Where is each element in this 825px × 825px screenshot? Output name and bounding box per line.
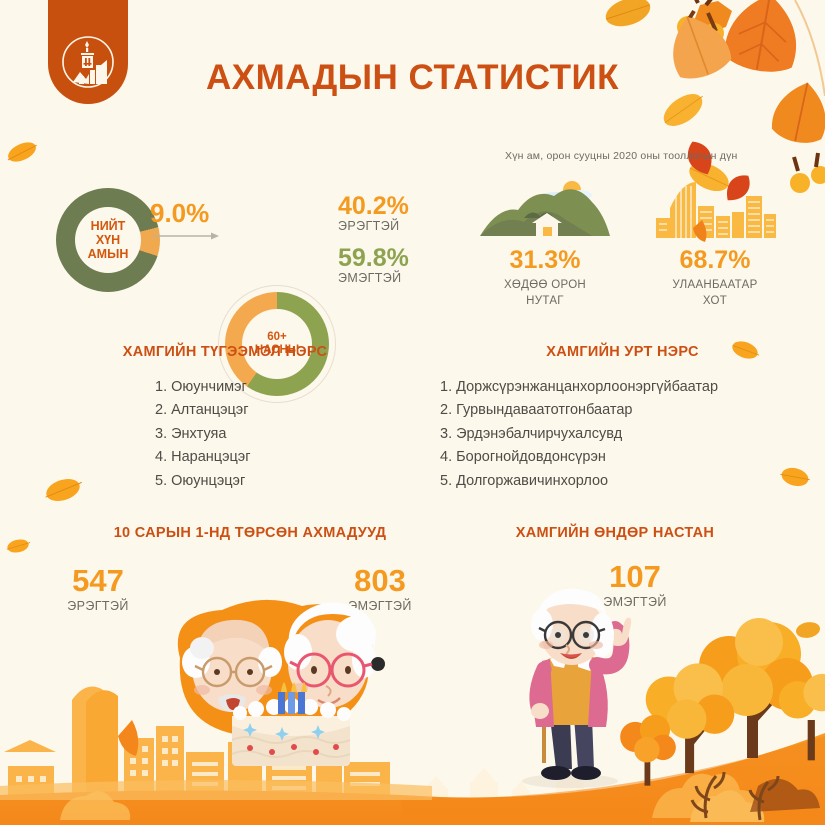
list-item: 5. Долгоржавичинхорлоо	[440, 470, 815, 493]
total-label-line3: АМЫН	[88, 247, 129, 261]
longest-names-title: ХАМГИЙН УРТ НЭРС	[430, 344, 815, 360]
longest-names-block: ХАМГИЙН УРТ НЭРС 1. Доржсүрэнжанцанхорло…	[430, 344, 815, 493]
age60-male-label: ЭРЭГТЭЙ	[338, 219, 409, 233]
region-stat-city: 68.7% УЛААНБААТАР ХОТ	[630, 178, 800, 309]
age60-female-stat: 59.8% ЭМЭГТЭЙ	[338, 245, 409, 285]
rural-percent: 31.3%	[460, 246, 630, 275]
countryside-hills-icon	[460, 178, 630, 240]
oldest-section-title: ХАМГИЙН ӨНДӨР НАСТАН	[450, 525, 780, 541]
rural-label-line1: ХӨДӨӨ ОРОН	[504, 279, 586, 291]
city-label-line1: УЛААНБААТАР	[672, 279, 757, 291]
common-names-list: 1. Оюунчимэг 2. Алтанцэцэг 3. Энхтуяа 4.…	[60, 376, 390, 493]
list-item: 3. Эрдэнэбалчирчухалсувд	[440, 423, 815, 446]
city-percent: 68.7%	[630, 246, 800, 275]
elderly-couple-with-cake-illustration	[120, 600, 430, 780]
list-item: 2. Алтанцэцэг	[155, 399, 390, 422]
list-item: 1. Оюунчимэг	[155, 376, 390, 399]
elderly-share-percent: 9.0%	[150, 198, 209, 229]
list-item: 3. Энхтуяа	[155, 423, 390, 446]
donut-center-label: НИЙТ ХҮН АМЫН	[75, 207, 141, 273]
birthday-section-title: 10 САРЫН 1-НД ТӨРСӨН АХМАДУУД	[60, 525, 440, 541]
total-label-line2: ХҮН	[96, 233, 120, 247]
oldest-person-age: 107	[575, 561, 695, 594]
common-names-title: ХАМГИЙН ТҮГЭЭМЭЛ НЭРС	[60, 344, 390, 360]
rural-label-line2: НУТАГ	[526, 295, 564, 307]
list-item: 1. Доржсүрэнжанцанхорлоонэргүйбаатар	[440, 376, 815, 399]
total-population-donut: НИЙТ ХҮН АМЫН	[56, 188, 160, 292]
cake-number-candles	[278, 682, 307, 714]
age60-male-percent: 40.2%	[338, 193, 409, 219]
grandma-head	[531, 588, 614, 665]
city-label-line2: ХОТ	[703, 295, 727, 307]
common-names-block: ХАМГИЙН ТҮГЭЭМЭЛ НЭРС 1. Оюунчимэг 2. Ал…	[60, 344, 390, 493]
list-item: 4. Наранцэцэг	[155, 446, 390, 469]
age60-label-line1: 60+	[267, 331, 287, 344]
city-buildings-icon	[630, 178, 800, 240]
page-title: АХМАДЫН СТАТИСТИК	[0, 58, 825, 98]
age60-female-percent: 59.8%	[338, 245, 409, 271]
total-label-line1: НИЙТ	[91, 219, 126, 233]
arrow-icon	[153, 231, 221, 241]
birthday-male-count: 547	[38, 565, 158, 598]
region-stat-rural: 31.3% ХӨДӨӨ ОРОН НУТАГ	[460, 178, 630, 309]
subtitle: Хүн ам, орон сууцны 2020 оны тооллогын д…	[505, 150, 738, 162]
infographic-canvas: АХМАДЫН СТАТИСТИК Хүн ам, орон сууцны 20…	[0, 0, 825, 825]
list-item: 4. Борогнойдовдонсүрэн	[440, 446, 815, 469]
birthday-female-count: 803	[320, 565, 440, 598]
elderly-woman-pointing-illustration	[498, 595, 658, 790]
list-item: 5. Оюунцэцэг	[155, 470, 390, 493]
age60-male-stat: 40.2% ЭРЭГТЭЙ	[338, 193, 409, 233]
list-item: 2. Гурвындаваатотгонбаатар	[440, 399, 815, 422]
longest-names-list: 1. Доржсүрэнжанцанхорлоонэргүйбаатар 2. …	[430, 376, 815, 493]
age60-female-label: ЭМЭГТЭЙ	[338, 271, 409, 285]
